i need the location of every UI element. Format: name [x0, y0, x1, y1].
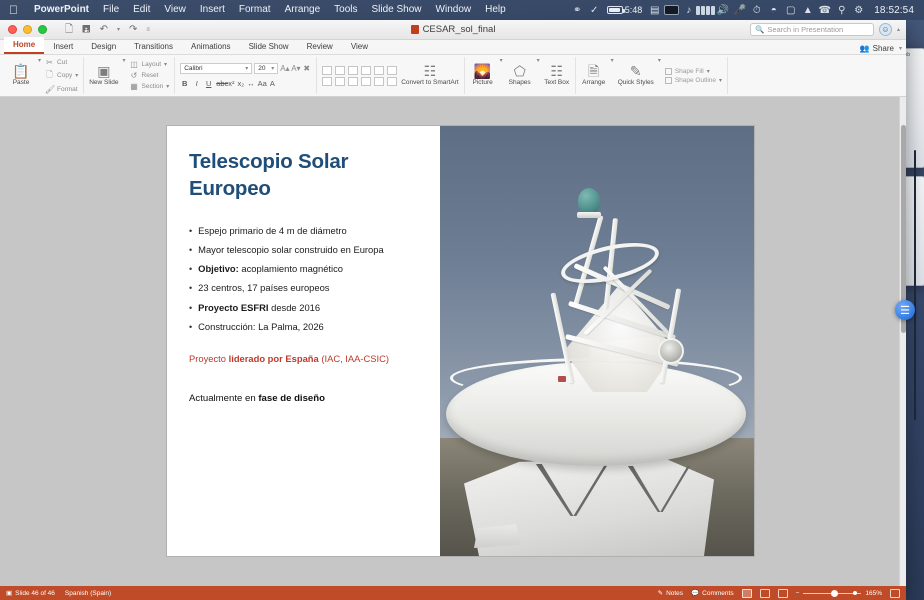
slide-vertical-scrollbar[interactable]	[899, 97, 906, 586]
layout-button[interactable]: ◫ Layout ▾	[130, 60, 170, 69]
reset-label: Reset	[142, 72, 159, 79]
phone-icon[interactable]: ☎	[817, 3, 832, 17]
reset-button[interactable]: ↺ Reset	[130, 71, 170, 80]
quick-styles-button[interactable]: ✎ Quick Styles	[618, 57, 654, 94]
screen: T-Umb A ☰  PowerPoint File Edit View In…	[0, 0, 924, 600]
account-avatar[interactable]: ☺	[879, 23, 892, 36]
numbering-button[interactable]	[335, 66, 345, 75]
apple-menu-icon[interactable]: 	[9, 4, 18, 16]
telescope-cap-band	[577, 212, 601, 218]
arrange-icon: 🗎	[588, 64, 599, 78]
align-center-button[interactable]	[335, 77, 345, 86]
shrink-font-button[interactable]: A▾	[291, 64, 300, 73]
zoom-default-marker	[853, 591, 857, 595]
ribbon-tab-bar-right: 👥 Share ▾	[860, 44, 902, 54]
convert-to-smartart-button[interactable]: ☷ Convert to SmartArt	[401, 57, 458, 94]
zoom-level-label: 165%	[865, 590, 882, 597]
slide-canvas[interactable]: Telescopio Solar Europeo • Espejo primar…	[0, 97, 906, 586]
powerpoint-window: 🗋 🖪 ↶ ▾ ↷ ≡ CESAR_sol_final 🔍 Search in …	[0, 20, 906, 600]
format-painter-button[interactable]: 🖌 Format	[45, 85, 78, 94]
save-icon[interactable]: 🖪	[82, 25, 91, 35]
copy-button[interactable]: 🗋 Copy ▾	[45, 69, 78, 83]
menu-item-slide-show[interactable]: Slide Show	[365, 0, 429, 20]
undo-icon[interactable]: ↶	[100, 25, 108, 35]
bullet-text: 23 centros, 17 países europeos	[198, 283, 329, 294]
equalizer-icon[interactable]	[698, 3, 713, 17]
font-size-chevron-down-icon: ▾	[271, 65, 274, 72]
tab-home[interactable]: Home	[4, 37, 44, 54]
line-spacing-button[interactable]	[374, 66, 384, 75]
comments-button[interactable]: 💬 Comments	[691, 589, 734, 597]
paste-dropdown-icon[interactable]: ▾	[38, 57, 41, 94]
shape-fill-dropdown-icon[interactable]: ▾	[707, 68, 710, 75]
title-bar-right: 🔍 Search in Presentation ☺ ▴	[750, 23, 900, 36]
bullet-icon: •	[189, 226, 192, 237]
zoom-out-icon[interactable]: −	[796, 590, 800, 597]
notes-label: Notes	[666, 590, 683, 597]
bullet-text-container: Objetivo: acoplamiento magnético	[198, 264, 343, 275]
slide-highlight-text[interactable]: Proyecto liderado por España (IAC, IAA-C…	[189, 353, 424, 364]
close-window-button[interactable]	[8, 25, 17, 34]
ribbon-tab-bar: Home Insert Design Transitions Animation…	[0, 40, 906, 55]
search-placeholder: Search in Presentation	[767, 25, 843, 34]
justify-button[interactable]	[361, 77, 371, 86]
copy-label: Copy	[57, 72, 72, 79]
section-button[interactable]: ▦ Section ▾	[130, 82, 170, 91]
scissors-icon: ✂	[45, 58, 54, 67]
bullets-button[interactable]	[322, 66, 332, 75]
zoom-slider[interactable]: − 165%	[796, 590, 882, 597]
strikethrough-button[interactable]: abc	[216, 79, 225, 88]
font-row: Calibri ▾ 20 ▾ A▴ A▾	[180, 63, 311, 74]
highlight-lead: Proyecto	[189, 353, 229, 364]
shape-format-commands: Shape Fill ▾ Shape Outline ▾	[665, 57, 722, 94]
quick-styles-icon: ✎	[630, 64, 642, 78]
slide-counter-label: Slide 46 of 46	[15, 590, 55, 597]
text-box-icon: ☷	[550, 64, 563, 78]
cut-button[interactable]: ✂ Cut	[45, 58, 78, 67]
view-reading-button[interactable]	[778, 589, 788, 598]
bullet-bold-part: Objetivo:	[198, 263, 239, 274]
undo-dropdown-icon[interactable]: ▾	[117, 27, 120, 33]
increase-indent-button[interactable]	[361, 66, 371, 75]
menu-item-help[interactable]: Help	[478, 0, 513, 20]
music-note-icon[interactable]: ♪	[681, 3, 696, 17]
new-slide-icon: ▣	[97, 64, 110, 78]
customize-toolbar-icon[interactable]: ≡	[146, 27, 150, 33]
clear-formatting-button[interactable]: ✖	[302, 64, 311, 73]
copy-icon: 🗋	[45, 69, 54, 83]
tab-insert[interactable]: Insert	[44, 39, 82, 54]
wifi-icon[interactable]: ◓	[766, 3, 781, 17]
language-indicator[interactable]: Spanish (Spain)	[65, 590, 111, 597]
microphone-icon[interactable]: 🎤	[732, 3, 747, 17]
reset-icon: ↺	[130, 71, 139, 80]
character-spacing-button[interactable]: ↔	[247, 79, 255, 88]
tab-transitions[interactable]: Transitions	[125, 39, 182, 54]
status-bar-right: ✎ Notes 💬 Comments − 165%	[658, 589, 900, 598]
convert-to-smartart-label: Convert to SmartArt	[401, 79, 458, 86]
ribbon-group-insert: 🌄 Picture ▾ ⬠ Shapes ▾ ☷ Text Box	[465, 57, 576, 94]
shape-fill-button[interactable]: Shape Fill ▾	[665, 68, 722, 75]
status-bar-left: ▣ Slide 46 of 46 Spanish (Spain)	[6, 589, 111, 597]
menu-item-arrange[interactable]: Arrange	[278, 0, 328, 20]
powerpoint-file-icon	[411, 25, 419, 34]
tab-slide-show[interactable]: Slide Show	[240, 39, 298, 54]
eject-icon[interactable]: ▲	[800, 3, 815, 17]
zoom-track[interactable]	[803, 593, 861, 594]
cut-label: Cut	[57, 59, 67, 66]
menu-item-format[interactable]: Format	[232, 0, 278, 20]
change-case-button[interactable]: Aa	[258, 79, 267, 88]
bullet-icon: •	[189, 322, 192, 333]
list-item: • Objetivo: acoplamiento magnético	[189, 264, 424, 275]
ribbon-collapse-icon[interactable]: ▴	[897, 26, 900, 33]
list-item: • 23 centros, 17 países europeos	[189, 283, 424, 294]
view-normal-button[interactable]	[742, 589, 752, 598]
paragraph-row-2	[322, 77, 397, 86]
bullet-text: Espejo primario de 4 m de diámetro	[198, 226, 347, 237]
decrease-indent-button[interactable]	[348, 66, 358, 75]
menu-item-edit[interactable]: Edit	[126, 0, 157, 20]
columns-button[interactable]	[374, 77, 384, 86]
ribbon-options-icon[interactable]: ▾	[899, 45, 902, 52]
display-icon[interactable]: ▢	[783, 3, 798, 17]
bullet-icon: •	[189, 283, 192, 294]
menu-item-tools[interactable]: Tools	[327, 0, 364, 20]
quick-access-toolbar: 🗋 🖪 ↶ ▾ ↷ ≡	[65, 25, 150, 35]
telescope-dome-cap	[578, 188, 600, 214]
align-left-button[interactable]	[322, 77, 332, 86]
bullet-tail-part: acoplamiento magnético	[239, 263, 343, 274]
shape-outline-dropdown-icon[interactable]: ▾	[719, 77, 722, 84]
telescope-image[interactable]	[440, 126, 754, 556]
menu-bar-status-icons: ⚭ ✓ 5:48 ▤ ♪ 🔊 🎤 ⏱ ◓ ▢ ▲ ☎ ⚲ ⚙ 18:52:54	[570, 3, 918, 17]
new-slide-label: New Slide	[89, 79, 118, 86]
shapes-dropdown-icon[interactable]: ▾	[537, 57, 540, 94]
picture-dropdown-icon[interactable]: ▾	[500, 57, 503, 94]
font-family-chevron-down-icon: ▾	[245, 65, 248, 72]
redo-icon[interactable]: ↷	[129, 25, 137, 35]
text-box-button[interactable]: ☷ Text Box	[544, 57, 570, 94]
shrink-font-icon: A▾	[291, 64, 300, 73]
comments-label: Comments	[702, 590, 733, 597]
battery-icon	[607, 6, 623, 14]
ribbon-group-font: Calibri ▾ 20 ▾ A▴ A▾	[175, 57, 317, 94]
control-center-icon[interactable]: ⚙	[851, 3, 866, 17]
layout-label: Layout	[142, 61, 162, 68]
shape-fill-label: Shape Fill	[675, 68, 704, 75]
font-controls: Calibri ▾ 20 ▾ A▴ A▾	[180, 57, 311, 94]
telescope-truss	[546, 188, 692, 388]
telescope-secondary-mirror	[658, 338, 684, 364]
bold-button[interactable]: B	[180, 79, 189, 88]
section-dropdown-icon[interactable]: ▾	[166, 83, 169, 90]
slide-bullet-list[interactable]: • Espejo primario de 4 m de diámetro • M…	[189, 226, 424, 333]
arrange-dropdown-icon[interactable]: ▾	[611, 57, 614, 94]
new-presentation-icon[interactable]: 🗋	[65, 25, 73, 35]
search-icon: 🔍	[755, 25, 764, 34]
subscript-button[interactable]: x₂	[237, 79, 244, 88]
bullet-icon: •	[189, 245, 192, 256]
menu-item-window[interactable]: Window	[429, 0, 479, 20]
time-machine-icon[interactable]: ⏱	[749, 3, 764, 17]
grow-font-button[interactable]: A▴	[280, 64, 289, 73]
shadow-button[interactable]: x²	[228, 79, 234, 88]
highlight-bold: liderado por España	[229, 353, 319, 364]
battery-time-label: 5:48	[625, 5, 643, 15]
text-box-label: Text Box	[544, 79, 569, 86]
slide-status-text[interactable]: Actualmente en fase de diseño	[189, 393, 424, 404]
clear-formatting-icon: ✖	[302, 64, 311, 73]
shape-outline-icon	[665, 77, 672, 84]
copy-dropdown-icon[interactable]: ▾	[75, 72, 78, 79]
arrange-label: Arrange	[582, 79, 605, 86]
layout-dropdown-icon[interactable]: ▾	[164, 61, 167, 68]
list-item: • Proyecto ESFRI desde 2016	[189, 303, 424, 314]
macos-menu-bar:  PowerPoint File Edit View Insert Forma…	[0, 0, 924, 20]
shapes-button[interactable]: ⬠ Shapes	[507, 57, 533, 94]
paragraph-controls	[322, 57, 397, 94]
maximize-window-button[interactable]	[38, 25, 47, 34]
ribbon-group-clipboard: 📋 Paste ▾ ✂ Cut 🗋 Copy ▾ 🖌	[3, 57, 84, 94]
zoom-knob[interactable]	[831, 590, 838, 597]
status-bar: ▣ Slide 46 of 46 Spanish (Spain) ✎ Notes…	[0, 586, 906, 600]
spotlight-search-icon[interactable]: ⚲	[834, 3, 849, 17]
tab-review[interactable]: Review	[298, 39, 342, 54]
vpn-icon[interactable]: ⚭	[570, 3, 585, 17]
bullet-text: Mayor telescopio solar construido en Eur…	[198, 245, 384, 256]
ribbon-group-arrange: 🗎 Arrange ▾ ✎ Quick Styles ▾ Shape Fill …	[576, 57, 728, 94]
font-size-value: 20	[258, 65, 265, 72]
font-size-select[interactable]: 20 ▾	[254, 63, 278, 74]
paste-icon: 📋	[12, 64, 29, 78]
ribbon-group-slides: ▣ New Slide ▾ ◫ Layout ▾ ↺ Reset ▦	[84, 57, 175, 94]
view-slide-sorter-button[interactable]	[760, 589, 770, 598]
italic-button[interactable]: I	[192, 79, 201, 88]
menu-bar-clock[interactable]: 18:52:54	[868, 5, 918, 16]
section-icon: ▦	[130, 82, 139, 91]
checkmark-circle-icon[interactable]: ✓	[587, 3, 602, 17]
battery-status[interactable]: 5:48	[604, 5, 646, 15]
list-item: • Construcción: La Palma, 2026	[189, 322, 424, 333]
list-item: • Mayor telescopio solar construido en E…	[189, 245, 424, 256]
shapes-icon: ⬠	[514, 64, 526, 78]
bullet-icon: •	[189, 303, 192, 314]
slide-commands: ◫ Layout ▾ ↺ Reset ▦ Section ▾	[130, 57, 170, 94]
quick-styles-dropdown-icon[interactable]: ▾	[658, 57, 661, 94]
volume-icon[interactable]: 🔊	[715, 3, 730, 17]
share-button[interactable]: 👥 Share	[860, 44, 894, 53]
bullet-bold-part: Proyecto ESFRI	[198, 302, 268, 313]
arrange-button[interactable]: 🗎 Arrange	[581, 57, 607, 94]
share-icon: 👥	[860, 44, 870, 53]
shapes-label: Shapes	[509, 79, 531, 86]
picture-icon: 🌄	[474, 64, 491, 78]
smartart-icon: ☷	[424, 64, 437, 78]
font-family-select[interactable]: Calibri ▾	[180, 63, 252, 74]
share-label: Share	[873, 44, 894, 53]
bullet-icon: •	[189, 264, 192, 275]
paragraph-row-1	[322, 66, 397, 75]
editing-workspace: Telescopio Solar Europeo • Espejo primar…	[0, 97, 906, 586]
list-item: • Espejo primario de 4 m de diámetro	[189, 226, 424, 237]
format-row: B I U abc x² x₂ ↔ Aa A	[180, 79, 311, 88]
layout-icon: ◫	[130, 60, 139, 69]
menu-item-powerpoint[interactable]: PowerPoint	[27, 0, 96, 20]
shape-outline-button[interactable]: Shape Outline ▾	[665, 77, 722, 84]
bullet-text-container: Proyecto ESFRI desde 2016	[198, 303, 320, 314]
ribbon-group-paragraph: ☷ Convert to SmartArt	[317, 57, 464, 94]
shape-outline-label: Shape Outline	[675, 77, 716, 84]
menu-item-insert[interactable]: Insert	[193, 0, 232, 20]
font-family-value: Calibri	[184, 65, 202, 72]
grow-font-icon: A▴	[280, 64, 289, 73]
format-label: Format	[57, 86, 78, 93]
menu-item-file[interactable]: File	[96, 0, 126, 20]
document-title: CESAR_sol_final	[423, 24, 496, 35]
clipboard-commands: ✂ Cut 🗋 Copy ▾ 🖌 Format	[45, 57, 78, 94]
window-title-bar: 🗋 🖪 ↶ ▾ ↷ ≡ CESAR_sol_final 🔍 Search in …	[0, 20, 906, 40]
picture-button[interactable]: 🌄 Picture	[470, 57, 496, 94]
keyboard-brightness-icon[interactable]	[664, 3, 679, 17]
underline-button[interactable]: U	[204, 79, 213, 88]
minimize-window-button[interactable]	[23, 25, 32, 34]
search-input[interactable]: 🔍 Search in Presentation	[750, 23, 874, 36]
slide-title[interactable]: Telescopio Solar Europeo	[189, 148, 424, 203]
slide[interactable]: Telescopio Solar Europeo • Espejo primar…	[167, 126, 754, 556]
tab-animations[interactable]: Animations	[182, 39, 240, 54]
new-slide-dropdown-icon[interactable]: ▾	[122, 57, 125, 94]
fit-slide-to-window-button[interactable]	[890, 589, 900, 598]
text-direction-button[interactable]	[387, 66, 397, 75]
status-bold: fase de diseño	[258, 393, 325, 404]
align-text-button[interactable]	[387, 77, 397, 86]
status-lead: Actualmente en	[189, 393, 258, 404]
quick-styles-label: Quick Styles	[618, 79, 654, 86]
shape-fill-icon	[665, 68, 672, 75]
new-slide-button[interactable]: ▣ New Slide	[89, 57, 118, 94]
font-color-button[interactable]: A	[270, 79, 275, 88]
tab-view[interactable]: View	[342, 39, 377, 54]
paintbrush-icon: 🖌	[45, 85, 54, 94]
ribbon-content: 📋 Paste ▾ ✂ Cut 🗋 Copy ▾ 🖌	[0, 55, 906, 97]
pill-menu-icon[interactable]: ▤	[647, 3, 662, 17]
section-label: Section	[142, 83, 164, 90]
bullet-text: Construcción: La Palma, 2026	[198, 322, 324, 333]
slide-icon: ▣	[6, 589, 12, 597]
dropbox-icon[interactable]: ☰	[895, 300, 915, 320]
paste-button[interactable]: 📋 Paste	[8, 57, 34, 94]
window-controls	[6, 25, 47, 34]
tab-design[interactable]: Design	[82, 39, 125, 54]
align-right-button[interactable]	[348, 77, 358, 86]
desktop-scrollbar[interactable]	[914, 150, 916, 420]
comment-icon: 💬	[691, 589, 699, 597]
bullet-tail-part: desde 2016	[269, 302, 321, 313]
slide-text-pane: Telescopio Solar Europeo • Espejo primar…	[167, 126, 440, 556]
picture-label: Picture	[473, 79, 493, 86]
highlight-tail: (IAC, IAA-CSIC)	[319, 353, 389, 364]
notes-button[interactable]: ✎ Notes	[658, 589, 683, 597]
slide-counter[interactable]: ▣ Slide 46 of 46	[6, 589, 55, 597]
notes-icon: ✎	[658, 589, 663, 597]
menu-item-view[interactable]: View	[157, 0, 193, 20]
paste-label: Paste	[13, 79, 30, 86]
